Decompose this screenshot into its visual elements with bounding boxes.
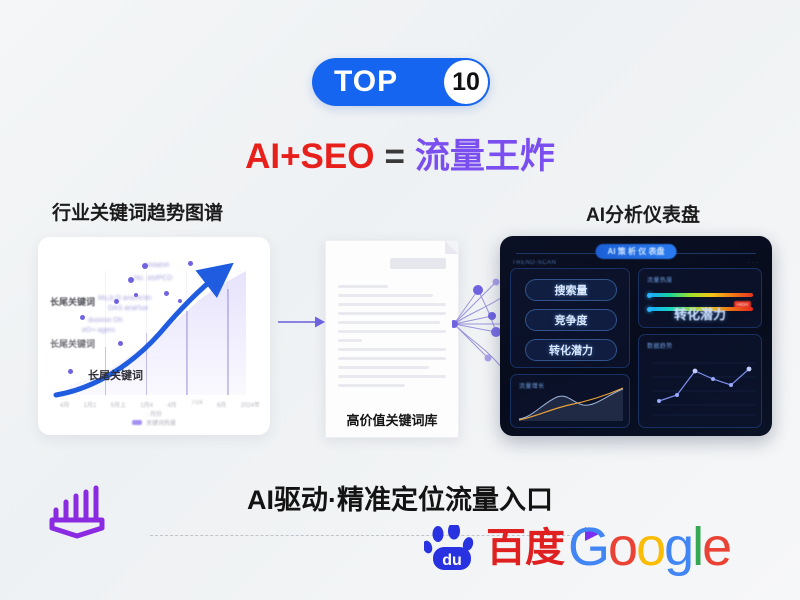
trend-rising-arrow: [52, 263, 242, 403]
heat-panel-title: 流量热度: [647, 275, 673, 284]
trend-fuzzy-word: Volatoh: [146, 262, 169, 269]
trend-fuzzy-word: No. stsfPCD: [134, 275, 173, 282]
trend-axis-tick: 4月: [60, 400, 69, 409]
left-section-title: 行业关键词趋势图谱: [52, 198, 223, 225]
trend-fuzzy-word: DAS anal'lue: [108, 305, 148, 312]
dashboard-menu-icon[interactable]: ···: [748, 260, 760, 266]
trend-x-axis-label: · 月份: [38, 409, 270, 418]
trend-axis-tick: 1月4: [140, 400, 153, 409]
google-letter-l: l: [692, 517, 702, 577]
dashboard-header: AI 策 析 仪 表盘: [500, 242, 772, 260]
trend-panel-title: 数据趋势: [647, 341, 673, 350]
dashboard-title-badge: AI 策 析 仪 表盘: [596, 244, 677, 259]
dashboard-trend-panel: 数据趋势: [638, 334, 762, 428]
baidu-paw-icon: du: [424, 525, 482, 571]
bottom-tagline: AI驱动·精准定位流量入口: [0, 478, 800, 517]
trend-fuzzy-word: eO+-ageni: [82, 327, 115, 334]
top-badge-circle: 10: [444, 60, 488, 104]
google-logo: Google: [568, 520, 730, 574]
poster-canvas: TOP 10 AI+SEO=流量王炸 行业关键词趋势图谱 AI分析仪表盘: [0, 0, 800, 600]
svg-text:du: du: [442, 552, 462, 569]
flow-arrow-icon: [278, 315, 326, 329]
heat-overlay-label: 转化潜力: [639, 304, 761, 323]
trend-fuzzy-word: duoouo Oh: [88, 317, 123, 324]
trend-fuzzy-word: Mu,b,O anorhi'dn: [98, 295, 151, 302]
trend-keyword-label: 长尾关键词: [88, 367, 143, 383]
trend-axis-tick: 2024年: [241, 400, 260, 409]
trend-axis-tick: 5月上: [111, 400, 126, 409]
headline-part-traffic: 流量王炸: [415, 137, 555, 176]
heat-marker-dot: [647, 293, 652, 298]
google-letter-g1: G: [568, 517, 608, 577]
google-letter-e: e: [702, 517, 730, 577]
trend-legend: 关键词热度: [38, 418, 270, 427]
legend-swatch-icon: [132, 420, 142, 425]
trend-axis-tick: 7/24: [191, 400, 203, 409]
dashboard-left-chart-panel: 流量增长: [510, 374, 630, 428]
top-badge-label: TOP: [334, 67, 398, 97]
dashboard-line-chart: [639, 353, 763, 425]
dashboard-brand-label: TREND-SCAN: [512, 260, 556, 266]
google-letter-o1: o: [608, 517, 636, 577]
document-text-lines: [338, 285, 446, 393]
trend-axis-tick: 4月: [167, 400, 176, 409]
trend-keyword-label: 长尾关键词: [50, 295, 95, 308]
google-letter-o2: o: [636, 517, 664, 577]
left-area-chart: [511, 383, 631, 423]
document-caption: 高价值关键词库: [326, 410, 458, 429]
trend-axis-tick: 1月1: [84, 400, 97, 409]
right-section-title: AI分析仪表盘: [586, 200, 700, 227]
top-rank-badge: TOP 10: [312, 58, 490, 106]
metric-button-conversion[interactable]: 转化潜力: [525, 339, 617, 361]
heat-gradient-bar: [649, 293, 753, 297]
baidu-wordmark: 百度: [486, 528, 564, 568]
legend-label: 关键词热度: [146, 418, 176, 427]
baidu-logo: du 百度: [424, 525, 564, 571]
headline-operator: =: [384, 137, 404, 176]
trend-keyword-label: 长尾关键词: [50, 337, 95, 350]
document-header-block: [390, 258, 446, 269]
trend-axis-tick: 6月: [217, 400, 226, 409]
main-headline: AI+SEO=流量王炸: [0, 128, 800, 179]
top-badge-number: 10: [452, 70, 480, 95]
trend-chart-card: Volatoh No. stsfPCD Mu,b,O anorhi'dn DAS…: [38, 237, 270, 435]
bar-chart-pedestal-icon: [40, 484, 114, 546]
metric-button-competition[interactable]: 竞争度: [525, 309, 617, 331]
dashboard-metrics-panel: 搜索量 竞争度 转化潜力: [510, 268, 630, 368]
dashboard-heat-panel: 流量热度 HIGH 转化潜力: [638, 268, 762, 328]
keyword-document: 高价值关键词库: [325, 240, 459, 438]
headline-part-ai-seo: AI+SEO: [245, 137, 374, 176]
metric-button-search-volume[interactable]: 搜索量: [525, 279, 617, 301]
ai-dashboard: AI 策 析 仪 表盘 TREND-SCAN ··· 搜索量 竞争度 转化潜力 …: [500, 236, 772, 436]
trend-chart-inner: Volatoh No. stsfPCD Mu,b,O anorhi'dn DAS…: [38, 237, 270, 435]
trend-axis-labels: 4月 1月1 5月上 1月4 4月 7/24 6月 2024年: [60, 400, 260, 409]
google-letter-g2: g: [664, 517, 692, 577]
